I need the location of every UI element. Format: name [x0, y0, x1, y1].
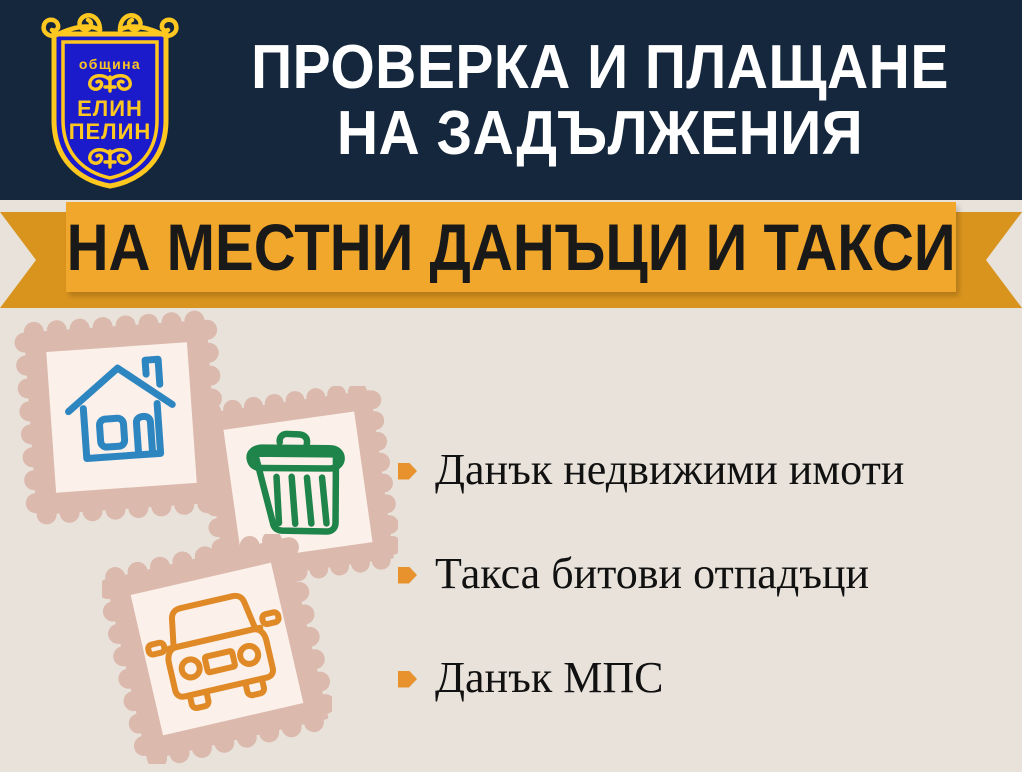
ribbon-main: НА МЕСТНИ ДАНЪЦИ И ТАКСИ: [66, 202, 956, 292]
ribbon-label: НА МЕСТНИ ДАНЪЦИ И ТАКСИ: [66, 214, 955, 280]
list-item[interactable]: Такса битови отпадъци: [398, 522, 1008, 626]
logo-text-obshtina: община: [79, 56, 141, 72]
logo-text-elin: ЕЛИН: [77, 96, 143, 121]
arrow-bullet-icon: [398, 567, 417, 584]
list-item[interactable]: Данък МПС: [398, 626, 1008, 730]
municipality-logo: община ЕЛИН ПЕЛИН: [40, 8, 180, 190]
ribbon-banner: НА МЕСТНИ ДАНЪЦИ И ТАКСИ: [0, 196, 1022, 316]
header-band: община ЕЛИН ПЕЛИН: [0, 0, 1022, 200]
arrow-bullet-icon: [398, 463, 417, 480]
page-title: ПРОВЕРКА И ПЛАЩАНЕ НА ЗАДЪЛЖЕНИЯ: [223, 16, 977, 186]
stamp-real-estate: [14, 310, 229, 525]
page-title-line-1: ПРОВЕРКА И ПЛАЩАНЕ: [251, 35, 949, 101]
stamp-vehicle: [102, 534, 332, 764]
list-item-label: Данък МПС: [435, 656, 663, 700]
tax-types-list: Данък недвижими имоти Такса битови отпад…: [398, 418, 1008, 730]
list-item-label: Такса битови отпадъци: [435, 552, 869, 596]
list-item-label: Данък недвижими имоти: [435, 448, 904, 492]
poster-canvas: община ЕЛИН ПЕЛИН: [0, 0, 1022, 772]
list-item[interactable]: Данък недвижими имоти: [398, 418, 1008, 522]
page-title-line-2: НА ЗАДЪЛЖЕНИЯ: [337, 101, 863, 167]
arrow-bullet-icon: [398, 671, 417, 688]
logo-text-pelin: ПЕЛИН: [69, 119, 152, 144]
ribbon-shadow: [74, 292, 954, 308]
